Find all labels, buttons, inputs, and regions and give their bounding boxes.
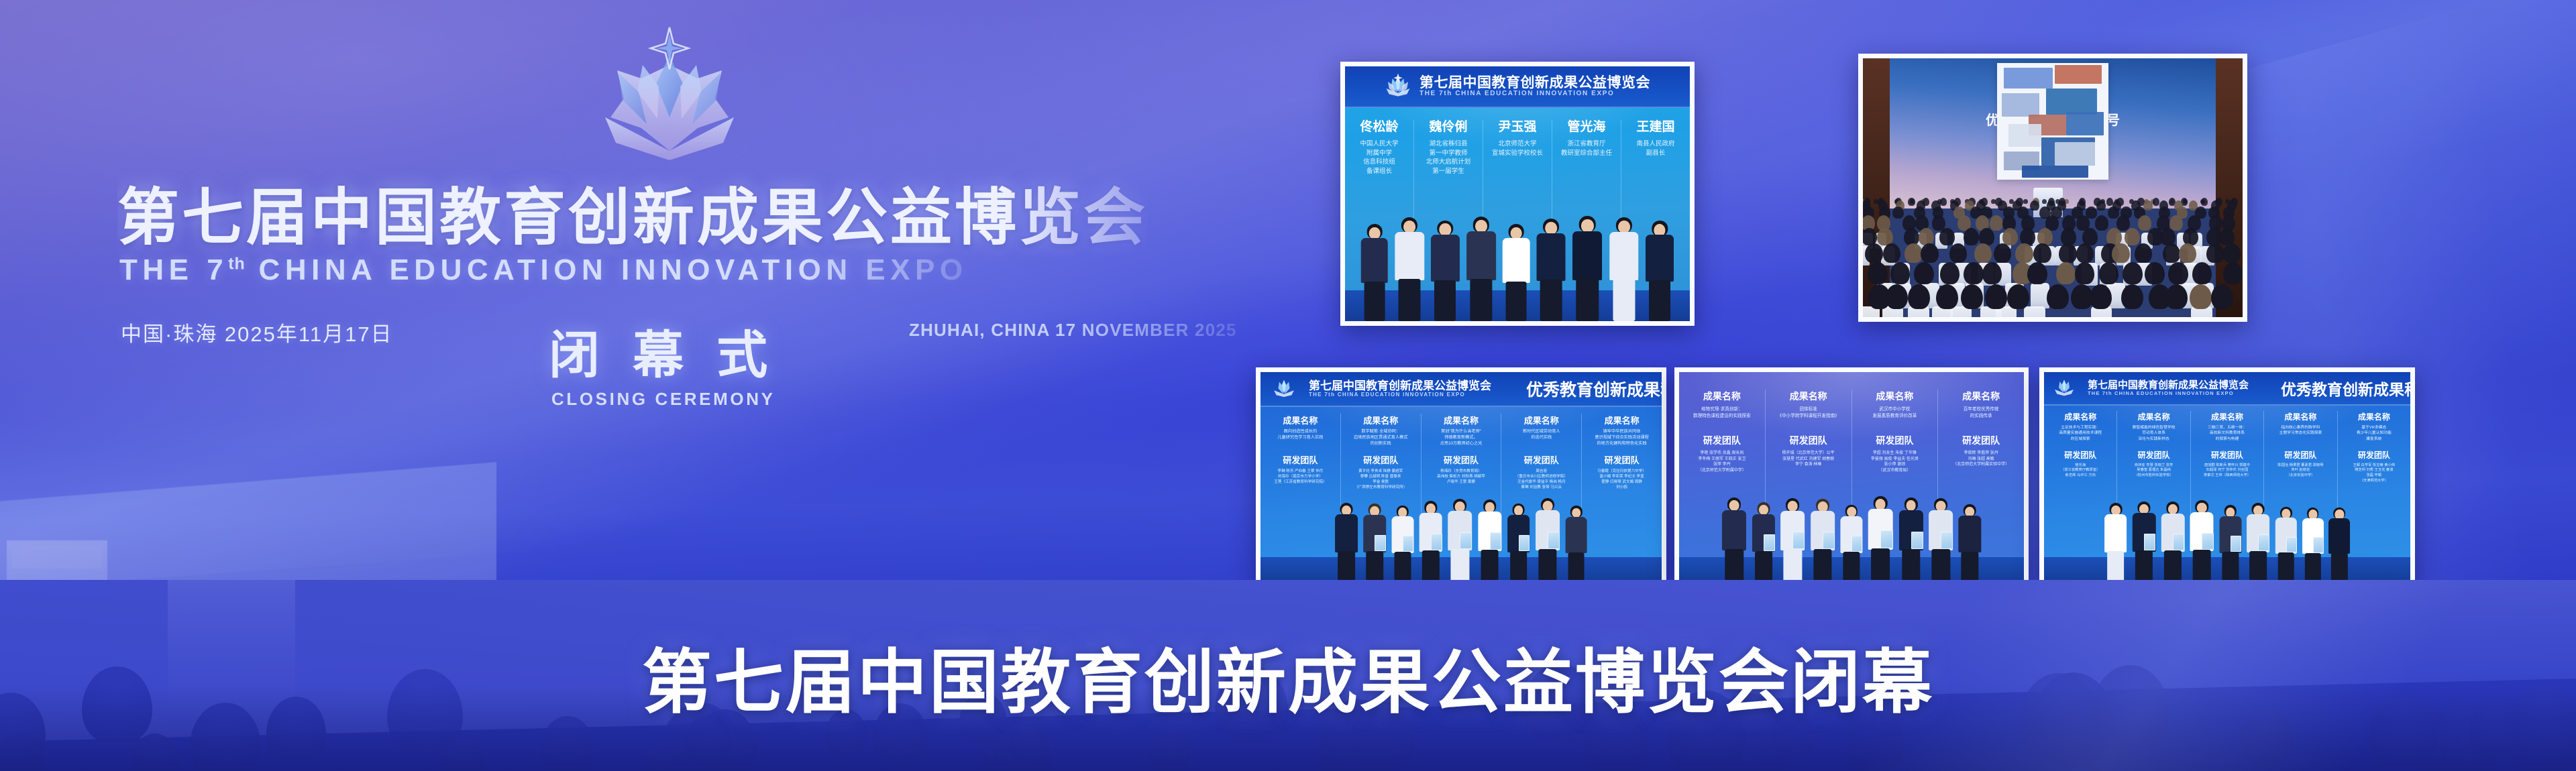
column-header-achievement: 成果名称 [1682, 390, 1762, 403]
column-header-team: 研发团队 [2341, 449, 2408, 461]
award-person-affiliation-line: 第一中学教师 [1417, 149, 1480, 158]
award-column: 尹玉强北京师范大学宣城实验学校校长 [1483, 120, 1552, 221]
column-header-achievement: 成果名称 [2120, 411, 2187, 422]
achievement-name: 基于VR多模态 青少年儿童认知功能 康复系统 [2341, 425, 2408, 445]
photo-award-teams-1[interactable]: 第七届中国教育创新成果公益博览会 THE 7th CHINA EDUCATION… [1256, 367, 1666, 589]
column-header-achievement: 成果名称 [1424, 414, 1499, 426]
award-person-affiliation-line: 北京师范大学 [1486, 139, 1549, 149]
column-header-achievement: 成果名称 [1585, 414, 1659, 426]
award-person-name: 尹玉强 [1486, 120, 1549, 135]
column-header-team: 研发团队 [1424, 453, 1499, 466]
award-person-affiliation-line: 浙江省教育厅 [1555, 139, 1618, 149]
expo-title-cn: 第七届中国教育创新成果公益博览会 [117, 168, 1148, 257]
column-header-achievement: 成果名称 [1941, 390, 2021, 403]
board-title-cn: 第七届中国教育创新成果公益博览会 [1419, 76, 1650, 91]
team-members: 杨海珍（东莞市教育局） 高伟校 柴松方 刘秋燕 胡颖苹 卢晓华 王慧 黄娜 [1424, 469, 1499, 485]
column-header-achievement: 成果名称 [2341, 411, 2408, 422]
crystal-lotus-emblem [1273, 376, 1295, 402]
expo-title-en: THE 7th CHINA EDUCATION INNOVATION EXPO [119, 253, 968, 287]
column-header-achievement: 成果名称 [1855, 390, 1935, 403]
board-award-label: 优秀教育创新成果称号 [2281, 377, 2410, 400]
award-person-name: 魏伶俐 [1417, 120, 1480, 135]
expo-title-en-ordinal: th [228, 254, 246, 273]
column-header-achievement: 成果名称 [2267, 411, 2334, 422]
column-header-achievement: 成果名称 [2047, 411, 2114, 422]
column-header-team: 研发团队 [2047, 449, 2114, 461]
achievement-name: 立足技术与工程实践： 高质量实施通用技术课程 的区域探索 [2047, 425, 2114, 445]
column-header-team: 研发团队 [2194, 449, 2261, 461]
award-person-name: 佟松龄 [1348, 120, 1411, 135]
team-members: 李艳 张学伟 贠鑫 周长凤 李冬梅 王丽军 王晓正 张卫 张萍 李丹 （北京师范… [1682, 451, 1762, 474]
award-person-affiliation-line: 副县长 [1624, 149, 1687, 158]
achievement-name: 百年老校优秀传统 的实践传承 [1941, 406, 2021, 429]
award-column: 王建国南县人民政府副县长 [1621, 120, 1690, 221]
board-award-label: 优秀教育创新成果称号 [1526, 377, 1662, 401]
award-person-affiliation-line: 湖北省秭归县 [1417, 139, 1480, 149]
team-members: 陈国治 杨果君 董素君 郑晓明 朱叶 赵晓芸 （北京实验中学） [2267, 463, 2334, 479]
poster-canvas: 第七届中国教育创新成果公益博览会 THE 7th CHINA EDUCATION… [0, 0, 2576, 771]
achievement-name: 数字赋能·全域协同： 边境民族地区贯通式育人模式 的创新实践 [1344, 429, 1418, 449]
team-members: 黄平化 李贵卓 陆静 蒙超军 黎攀 吕斌明 陈富 盛泰来 李金 侯胜 （广西崇左… [1344, 469, 1418, 490]
team-members: 周吉容 （重庆市合川区教师进修学院） 汪金代俊华 梁益平 杨岗 杨月 蔡琳 刘治… [1504, 469, 1578, 490]
award-person-name: 管光海 [1555, 120, 1618, 135]
achievement-name: 武汉市中小学校 发展素质教育评价改革 [1855, 406, 1935, 429]
expo-title-en-rest: CHINA EDUCATION INNOVATION EXPO [246, 253, 968, 286]
achievement-name: 指向核心素养的跨学科 主题学习常态化实践探索 [2267, 425, 2334, 445]
team-members: 唐旭群 陈新兵 樊怀兴 郭建中 石超球 何宁 苏仲乐 刘全国 李秦芯 王伟（陕西… [2194, 463, 2261, 479]
bottom-headline-text: 第七届中国教育创新成果公益博览会闭幕 [0, 625, 2576, 726]
column-header-achievement: 成果名称 [1768, 390, 1849, 403]
bottom-headline-band: 第七届中国教育创新成果公益博览会闭幕 [0, 580, 2576, 771]
achievement-name: 首创"我为什么当老师" 师德教育新模式， 点亮10万教师初心之光 [1424, 429, 1499, 449]
ceremony-title-en: CLOSING CEREMONY [551, 389, 775, 410]
achievement-name: 铸牢中华民族共同体 意识视域下综合实践活动课程 的地方化建构和特色化实践 [1585, 429, 1659, 449]
ceremony-title-cn: 闭 幕 式 [549, 314, 777, 388]
expo-meta-cn: 中国·珠海 2025年11月17日 [121, 317, 393, 347]
column-header-team: 研发团队 [1585, 453, 1659, 466]
team-members: 杨开城（北京师范大学）公平 张慧星 代武红 刘建军 胡春丽 李宁 袁涛 林琳 [1768, 451, 1849, 468]
column-header-team: 研发团队 [2120, 449, 2187, 461]
team-members: 王颖 白学军 张宝菊 黄小帅 隋芝柯 刘秀 王玉花 姜波 张磊 毕颖 （天津师范… [2341, 463, 2408, 484]
award-person-affiliation-line: 北师大启航计划 [1417, 158, 1480, 167]
column-header-team: 研发团队 [1855, 434, 1935, 447]
column-header-team: 研发团队 [1504, 453, 1578, 466]
column-header-achievement: 成果名称 [1344, 414, 1418, 426]
crystal-lotus-emblem [597, 17, 741, 174]
column-header-team: 研发团队 [1768, 434, 1849, 447]
crystal-lotus-emblem [1385, 72, 1411, 102]
column-header-team: 研发团队 [2267, 449, 2334, 461]
team-members: 李琳 陈芳 严伯春 王翠 仲月 刘海玲（南京市力学小学） 王莲（江苏省教育科学研… [1263, 469, 1338, 485]
column-header-achievement: 成果名称 [1263, 414, 1338, 426]
achievement-name: 三融三育、五维一体： 高校新文科教育体系 的探索与构建 [2194, 425, 2261, 445]
expo-meta-en: ZHUHAI, CHINA 17 NOVEMBER 2025 [909, 320, 1237, 341]
column-header-achievement: 成果名称 [1504, 414, 1578, 426]
board-title-en: THE 7th CHINA EDUCATION INNOVATION EXPO [2088, 391, 2249, 396]
award-person-affiliation-line: 中国人民大学 [1348, 139, 1411, 149]
column-header-team: 研发团队 [1682, 434, 1762, 447]
award-person-affiliation-line: 备课组长 [1348, 167, 1411, 176]
photo-award-teams-3[interactable]: 第七届中国教育创新成果公益博览会 THE 7th CHINA EDUCATION… [2039, 367, 2415, 589]
award-person-affiliation-line: 南县人民政府 [1624, 139, 1687, 149]
achievement-name: 面向创造性成长的 儿童研究性学习育人实践 [1263, 429, 1338, 449]
award-column: 佟松龄中国人民大学附属中学信息科技组备课组长 [1345, 120, 1414, 221]
award-person-affiliation-line: 宣城实验学校校长 [1486, 149, 1549, 158]
award-column: 魏伶俐湖北省秭归县第一中学教师北师大启航计划第一届学生 [1414, 120, 1483, 221]
board-title-cn: 第七届中国教育创新成果公益博览会 [1309, 380, 1491, 392]
award-person-affiliation-line: 信息科技组 [1348, 158, 1411, 167]
board-title-cn: 第七届中国教育创新成果公益博览会 [2088, 380, 2249, 391]
board-title-en: THE 7th CHINA EDUCATION INNOVATION EXPO [1309, 392, 1491, 398]
team-members: 管光海 （浙江省教育厅教研室） 俞芝辉 马中江 方向 [2047, 463, 2114, 479]
photo-award-persons[interactable]: 第七届中国教育创新成果公益博览会 THE 7th CHINA EDUCATION… [1340, 62, 1695, 326]
photo-award-teams-2[interactable]: 成果名称格物究理·求真创新： 数理特色课程建设的实践探索研发团队李艳 张学伟 贠… [1674, 367, 2029, 589]
achievement-name: 新时代区域劳动育人 的迭代实践 [1504, 429, 1578, 449]
expo-title-en-prefix: THE 7 [119, 253, 228, 286]
award-person-affiliation-line: 教研室综合部主任 [1555, 149, 1618, 158]
achievement-name: 团体标准 《中小学跨学科课程开发指南》 [1768, 406, 1849, 429]
photo-audience-hall[interactable]: 第七届中国教育创新成果公益博览会 优秀教育创新成果称号 发布仪式 中国·珠海 2… [1858, 54, 2247, 322]
achievement-name: 数智赋能的绿色智慧学校 劳动育人体系 深化与实践新样态 [2120, 425, 2187, 445]
team-members: 李超 刘永生 朱俊 丁华锋 李曼丽 易俊 李益夫 任光贤 张小萍 谢琼 （武汉市… [1855, 451, 1935, 474]
award-column: 管光海浙江省教育厅教研室综合部主任 [1552, 120, 1621, 221]
column-header-team: 研发团队 [1941, 434, 2021, 447]
award-person-affiliation-line: 第一届学生 [1417, 167, 1480, 176]
board-title-en: THE 7th CHINA EDUCATION INNOVATION EXPO [1419, 91, 1650, 98]
achievement-name: 格物究理·求真创新： 数理特色课程建设的实践探索 [1682, 406, 1762, 429]
team-members: 马春霞（克拉玛依第六中学） 富小娟 李亚荣 李纪文 李显 翟静 闫晓琴 武文娟 … [1585, 469, 1659, 490]
crystal-lotus-emblem [2053, 376, 2075, 401]
column-header-achievement: 成果名称 [2194, 411, 2261, 422]
column-header-team: 研发团队 [1263, 453, 1338, 466]
team-members: 李晓辉 李荔萍 张丹 冯琳 张超 高敏 （北京师范大学附属实验中学） [1941, 451, 2021, 468]
team-members: 俞林亚 李慧 张晓兰 张芳 吴春莹 葛理达 朱晶纬 （杭州市胜利实验学校） [2120, 463, 2187, 479]
column-header-team: 研发团队 [1344, 453, 1418, 466]
award-person-affiliation-line: 附属中学 [1348, 149, 1411, 158]
award-person-name: 王建国 [1624, 120, 1687, 135]
